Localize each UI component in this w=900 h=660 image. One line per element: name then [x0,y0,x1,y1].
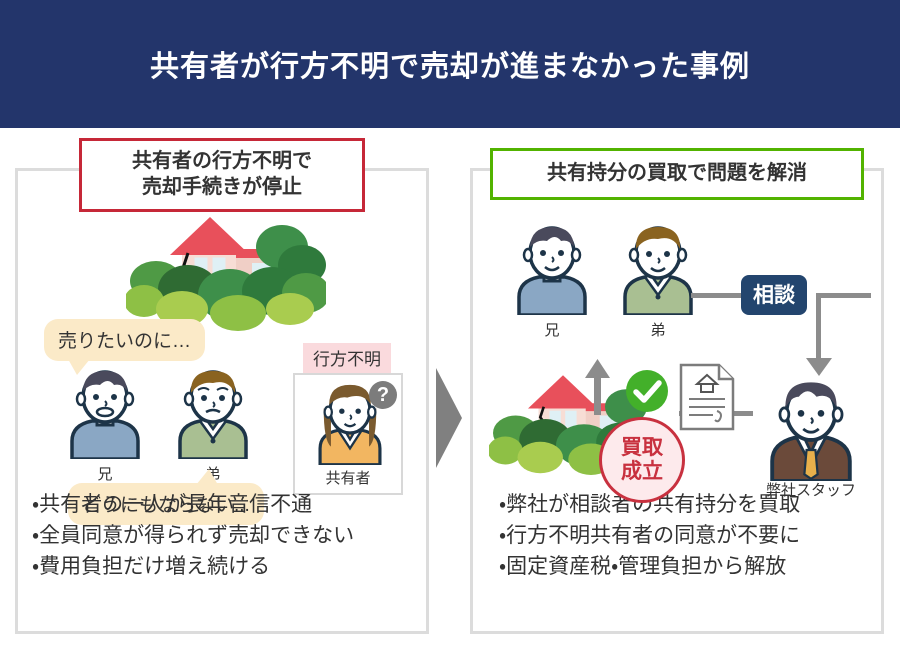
person-older-brother-solved-icon [509,223,595,315]
missing-coowner-card: ? 共有者 [293,373,403,495]
abandoned-house-icon [126,203,326,331]
contract-document-icon [679,363,735,431]
solution-bullet-1: ・弊社が相談者の共有持分を買取 [499,489,863,520]
problem-panel: 共有者の行方不明で 売却手続きが停止 [15,168,429,634]
solution-panel: 共有持分の買取で問題を解消 兄 [470,168,884,634]
deal-closed-stamp: 買取 成立 [599,417,685,503]
problem-bullet-1: ・共有者の一人が長年音信不通 [32,489,408,520]
person-staff-icon [763,379,859,481]
solution-bullet-2: ・行方不明共有者の同意が不要に [499,520,863,551]
status-badge-missing: 行方不明 [303,343,391,373]
person-label-older-brother: 兄 [62,463,148,484]
person-label-younger-brother-solved: 弟 [615,319,701,340]
check-circle-icon [625,369,669,413]
person-label-older-brother-solved: 兄 [509,319,595,340]
problem-bullet-list: ・共有者の一人が長年音信不通 ・全員同意が得られず売却できない ・費用負担だけ増… [18,489,426,582]
person-younger-brother-icon [170,367,256,459]
consult-badge: 相談 [741,275,807,315]
person-older-brother-icon [62,367,148,459]
stamp-line-1: 買取 [621,436,663,460]
arrow-up-icon [585,359,611,415]
page-title: 共有者が行方不明で売却が進まなかった事例 [150,43,750,85]
connector-line-horizontal [691,293,743,298]
person-label-coowner: 共有者 [295,467,401,488]
question-mark-icon: ? [369,381,397,409]
stamp-line-2: 成立 [621,460,663,484]
problem-bullet-3: ・費用負担だけ増え続ける [32,551,408,582]
before-after-arrow-icon [436,368,462,468]
speech-bubble-want-to-sell: 売りたいのに… [44,319,205,361]
connector-line-horizontal-2 [821,293,871,298]
solution-bullet-3: ・固定資産税・管理負担から解放 [499,551,863,582]
connector-line-vertical [816,293,821,361]
person-younger-brother-solved-icon [615,223,701,315]
problem-bullet-2: ・全員同意が得られず売却できない [32,520,408,551]
solution-bullet-list: ・弊社が相談者の共有持分を買取 ・行方不明共有者の同意が不要に ・固定資産税・管… [473,489,881,582]
arrow-down-icon [806,353,832,377]
page-header: 共有者が行方不明で売却が進まなかった事例 [0,0,900,128]
